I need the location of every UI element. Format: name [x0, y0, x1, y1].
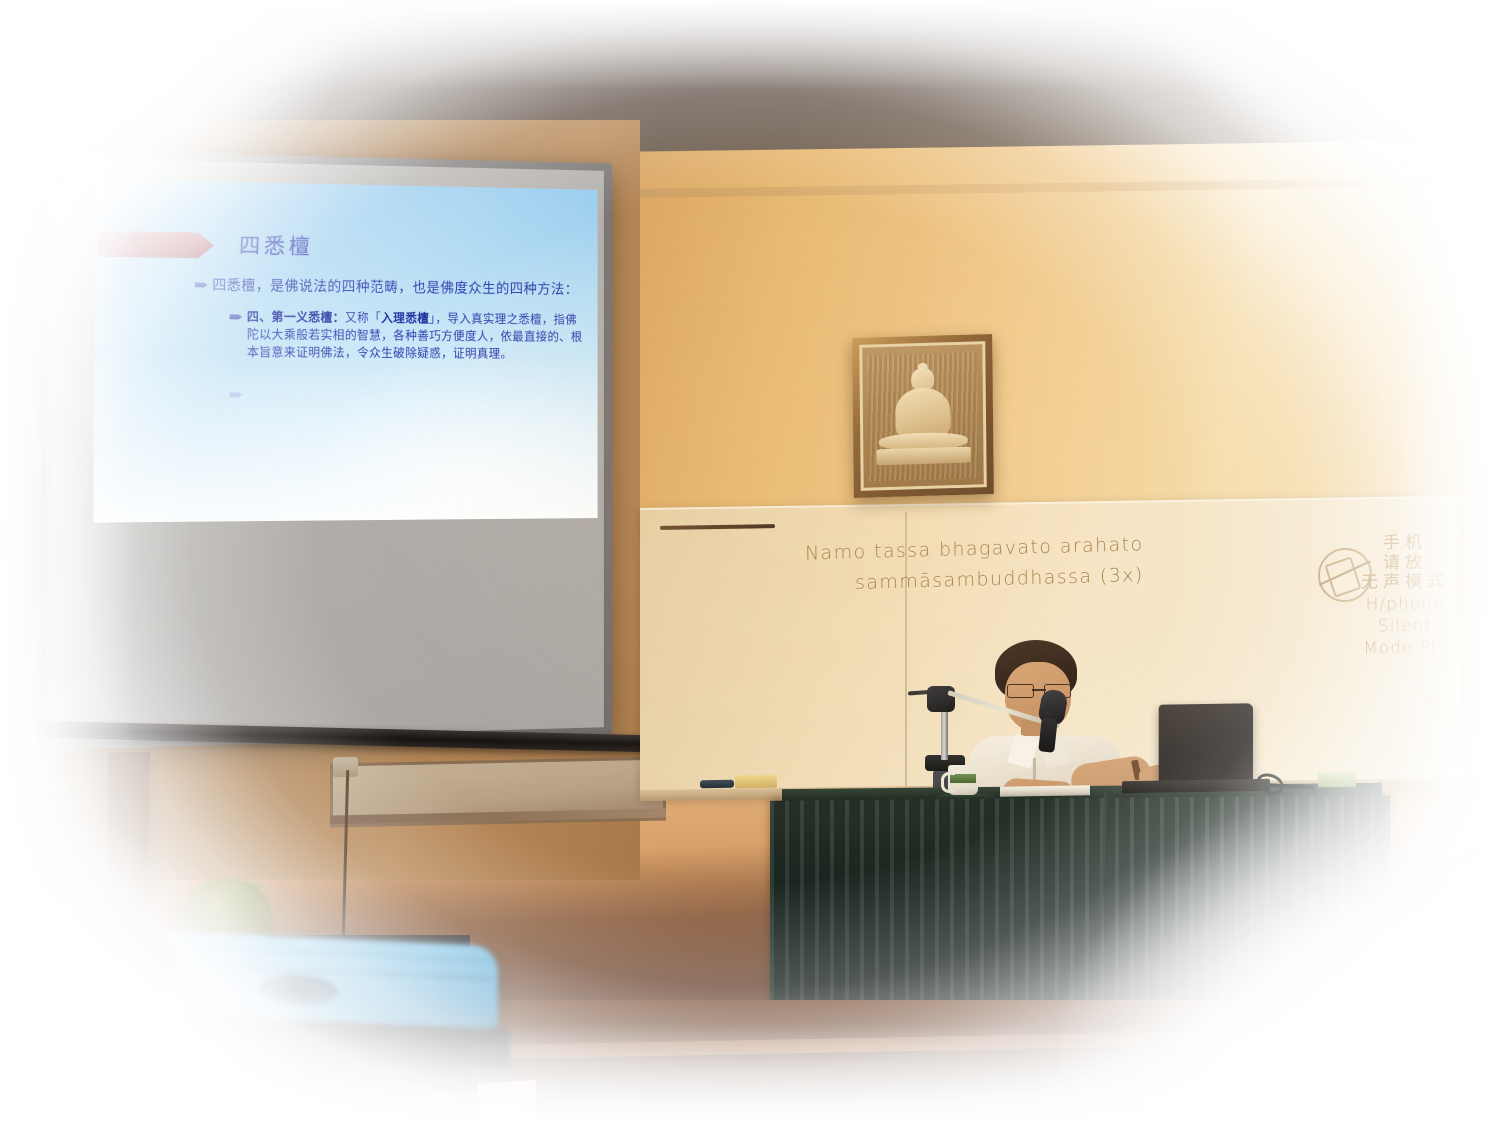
slide-bullet-text-a: 又称「: [345, 310, 381, 325]
notice-english-3: Mode Pls: [1345, 636, 1465, 660]
notice-chinese-1: 手机: [1345, 533, 1465, 555]
projector-glare: [93, 353, 597, 522]
whiteboard-eraser: [735, 775, 777, 789]
lens-glint: [117, 958, 127, 968]
picture-mat: [859, 341, 987, 491]
whiteboard-marker: [700, 780, 734, 789]
whiteboard-phone-notice: 手机 请放 无声模式 H/phone Silent Mode Pls: [1345, 533, 1465, 660]
mug-handle: [941, 772, 955, 793]
left-wall-pillar: [108, 752, 150, 932]
left-wall-panel: [0, 720, 120, 920]
tissue-box: [1318, 772, 1356, 788]
projected-slide: 四悉檀 四悉檀，是佛说法的四种范畴，也是佛度众生的四种方法： 四、第一义悉檀：又…: [93, 179, 597, 523]
pink-object-on-floor: [478, 1080, 536, 1124]
slide-arrow-banner: [97, 231, 214, 259]
bullet-marker-icon: [230, 313, 242, 321]
buddha-torso: [895, 387, 951, 439]
laptop-keyboard-base: [1122, 779, 1270, 794]
screen-surface: 四悉檀 四悉檀，是佛说法的四种范畴，也是佛度众生的四种方法： 四、第一义悉檀：又…: [52, 158, 604, 743]
framed-buddha-picture: [852, 334, 994, 498]
lens-glint: [113, 975, 121, 983]
lecture-hall-photograph: 四悉檀 四悉檀，是佛说法的四种范畴，也是佛度众生的四种方法： 四、第一义悉檀：又…: [0, 0, 1500, 1125]
notice-english-1: H/phone: [1345, 592, 1465, 616]
photo-canvas: 四悉檀 四悉檀，是佛说法的四种范畴，也是佛度众生的四种方法： 四、第一义悉檀：又…: [0, 0, 1500, 1125]
buddha-pedestal: [877, 447, 971, 465]
papers-on-table: [1000, 785, 1090, 797]
bullet-marker-icon: [195, 281, 208, 289]
projector: [60, 925, 500, 1045]
glasses-bridge: [1032, 689, 1046, 691]
slide-bullet-quoted: 入理悉檀: [381, 310, 429, 325]
left-wall-pillar-secondary: [148, 760, 164, 930]
slide-bullet-level1-text: 四悉檀，是佛说法的四种范畴，也是佛度众生的四种方法：: [212, 276, 578, 301]
laptop: [1159, 703, 1253, 784]
projection-screen: 四悉檀 四悉檀，是佛说法的四种范畴，也是佛度众生的四种方法： 四、第一义悉檀：又…: [46, 150, 612, 750]
slide-title: 四悉檀: [239, 228, 314, 261]
notice-chinese-3: 无声模式: [1345, 572, 1465, 594]
lens-glint: [79, 943, 107, 966]
notice-english-2: Silent: [1345, 614, 1465, 638]
slide-bullet-level1: 四悉檀，是佛说法的四种范畴，也是佛度众生的四种方法：: [195, 276, 587, 301]
slide-bullet-lead: 四、第一义悉檀：: [247, 309, 345, 325]
notice-initials: TQ: [1425, 697, 1438, 707]
